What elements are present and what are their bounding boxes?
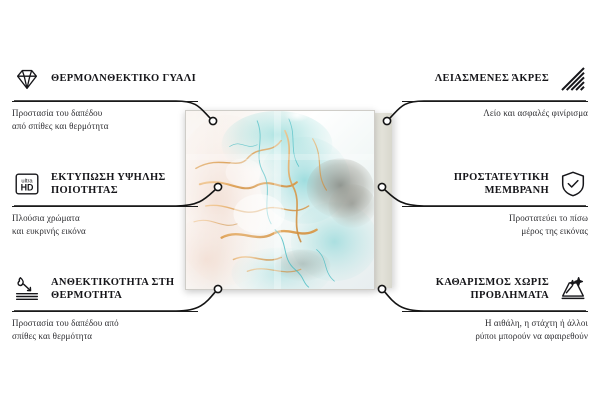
divider — [12, 206, 198, 207]
feature-header: ultra HD ΕΚΤΥΠΩΣΗ ΥΨΗΛΗΣ ΠΟΙΟΤΗΤΑΣ — [12, 167, 198, 201]
feature-title: ΚΑΘΑΡΙΣΜΟΣ ΧΩΡΙΣ ΠΡΟΒΛΗΜΑΤΑ — [402, 276, 549, 303]
wipe-clean-icon — [558, 274, 588, 304]
feature-title: ΘΕΡΜΟΛΝΘΕΚΤΙΚΟ ΓΥΑΛΙ — [51, 72, 196, 85]
feature-header: ΑΝΘΕΚΤΙΚΟΤΗΤΑ ΣΤΗ ΘΕΡΜΟΤΗΤΑ — [12, 272, 198, 306]
divider — [402, 311, 588, 312]
polished-edges-icon — [558, 64, 588, 94]
feature-polished-edges: ΛΕΙΑΣΜΕΝΕΣ ΆΚΡΕΣ Λείο και ασφαλές φινίρι… — [402, 62, 588, 120]
infographic-canvas: ΘΕΡΜΟΛΝΘΕΚΤΙΚΟ ΓΥΑΛΙ Προστασία του δαπέδ… — [0, 0, 600, 400]
feature-title: ΕΚΤΥΠΩΣΗ ΥΨΗΛΗΣ ΠΟΙΟΤΗΤΑΣ — [51, 171, 198, 198]
feature-heat-durability: ΑΝΘΕΚΤΙΚΟΤΗΤΑ ΣΤΗ ΘΕΡΜΟΤΗΤΑ Προστασία το… — [12, 272, 198, 343]
feature-header: ΘΕΡΜΟΛΝΘΕΚΤΙΚΟ ΓΥΑΛΙ — [12, 62, 198, 96]
svg-text:HD: HD — [21, 183, 34, 193]
feature-description: Προστασία του δαπέδουαπό σπίθες και θερμ… — [12, 107, 198, 133]
glass-panel — [185, 110, 375, 290]
reflection-vertical — [274, 111, 281, 289]
feature-title: ΠΡΟΣΤΑΤΕΥΤΙΚΗ ΜΕΜΒΡΑΝΗ — [402, 171, 549, 198]
divider — [12, 311, 198, 312]
feature-description: Λείο και ασφαλές φινίρισμα — [402, 107, 588, 120]
feature-title: ΛΕΙΑΣΜΕΝΕΣ ΆΚΡΕΣ — [435, 72, 549, 85]
ultra-hd-icon: ultra HD — [12, 169, 42, 199]
product-image — [185, 110, 375, 290]
feature-title: ΑΝΘΕΚΤΙΚΟΤΗΤΑ ΣΤΗ ΘΕΡΜΟΤΗΤΑ — [51, 276, 198, 303]
diamond-icon — [12, 64, 42, 94]
reflection-hotspot — [284, 110, 310, 122]
divider — [402, 101, 588, 102]
flame-resistance-icon — [12, 274, 42, 304]
feature-high-quality-print: ultra HD ΕΚΤΥΠΩΣΗ ΥΨΗΛΗΣ ΠΟΙΟΤΗΤΑΣ Πλούσ… — [12, 167, 198, 238]
feature-header: ΛΕΙΑΣΜΕΝΕΣ ΆΚΡΕΣ — [402, 62, 588, 96]
feature-description: Η αιθάλη, η στάχτη ή άλλοιρύποι μπορούν … — [402, 317, 588, 343]
feature-description: Προστατεύει το πίσωμέρος της εικόνας — [402, 212, 588, 238]
feature-description: Προστασία του δαπέδου απόσπίθες και θερμ… — [12, 317, 198, 343]
feature-heat-resistant-glass: ΘΕΡΜΟΛΝΘΕΚΤΙΚΟ ΓΥΑΛΙ Προστασία του δαπέδ… — [12, 62, 198, 133]
shield-check-icon — [558, 169, 588, 199]
feature-description: Πλούσια χρώματακαι ευκρινής εικόνα — [12, 212, 198, 238]
divider — [12, 101, 198, 102]
feature-header: ΠΡΟΣΤΑΤΕΥΤΙΚΗ ΜΕΜΒΡΑΝΗ — [402, 167, 588, 201]
feature-easy-cleaning: ΚΑΘΑΡΙΣΜΟΣ ΧΩΡΙΣ ΠΡΟΒΛΗΜΑΤΑ Η αιθάλη, η … — [402, 272, 588, 343]
divider — [402, 206, 588, 207]
feature-header: ΚΑΘΑΡΙΣΜΟΣ ΧΩΡΙΣ ΠΡΟΒΛΗΜΑΤΑ — [402, 272, 588, 306]
feature-protective-membrane: ΠΡΟΣΤΑΤΕΥΤΙΚΗ ΜΕΜΒΡΑΝΗ Προστατεύει το πί… — [402, 167, 588, 238]
